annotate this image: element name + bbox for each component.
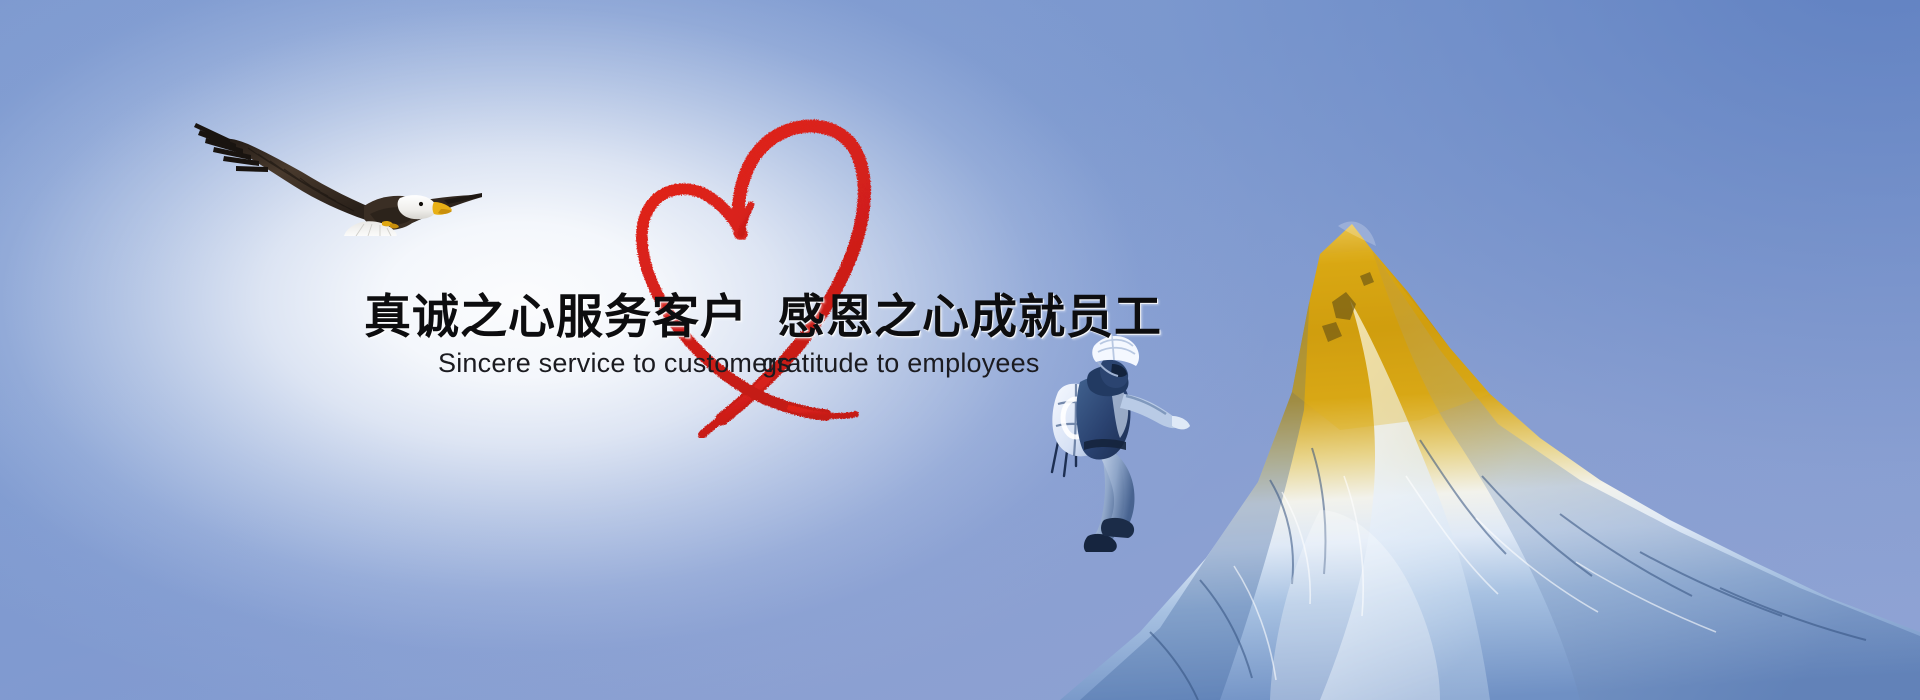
heart-icon — [612, 58, 912, 438]
eagle-icon — [186, 96, 482, 236]
hero-banner: 真诚之心服务客户 感恩之心成就员工 Sincere service to cus… — [0, 0, 1920, 700]
climber-icon — [1046, 330, 1196, 552]
